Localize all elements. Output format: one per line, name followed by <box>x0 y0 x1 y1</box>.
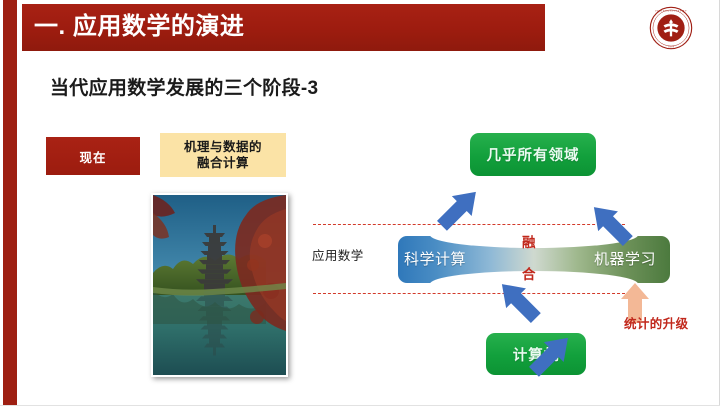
fusion-char-top: 融 <box>522 231 536 251</box>
fusion-label-machine-learning: 机器学习 <box>594 248 656 269</box>
slide-canvas: 一. 应用数学的演进 P E K I N G U N I V E R S I T… <box>0 0 720 406</box>
fusion-char-bottom: 合 <box>522 263 536 283</box>
svg-text:P E K I N G U N I V E R S I T: P E K I N G U N I V E R S I T Y <box>655 9 687 12</box>
page-title: 一. 应用数学的演进 <box>34 11 244 43</box>
dashed-guide-bottom <box>313 293 625 294</box>
subtitle: 当代应用数学发展的三个阶段-3 <box>50 73 318 100</box>
left-accent-bar <box>3 0 17 406</box>
highlight-line-1: 机理与数据的 <box>184 139 262 155</box>
fusion-lens-mask-bottom <box>420 292 648 310</box>
stage-badge: 现在 <box>46 137 140 175</box>
diagram-arrows <box>0 0 720 406</box>
fusion-label-scientific-computing: 科学计算 <box>404 248 466 269</box>
axis-label-applied-math: 应用数学 <box>312 245 364 264</box>
svg-text:1 8 9 8: 1 8 9 8 <box>668 45 675 48</box>
highlight-line-2: 融合计算 <box>197 155 249 171</box>
node-all-fields: 几乎所有领域 <box>470 133 596 176</box>
label-statistics-upgrade: 统计的升级 <box>624 313 689 332</box>
pagoda-photo <box>151 193 288 377</box>
dashed-guide-top <box>313 224 625 225</box>
peking-university-seal-icon: P E K I N G U N I V E R S I T Y 1 8 9 8 <box>649 6 693 50</box>
highlight-box: 机理与数据的 融合计算 <box>160 133 286 177</box>
node-computer: 计算机 <box>486 333 586 375</box>
